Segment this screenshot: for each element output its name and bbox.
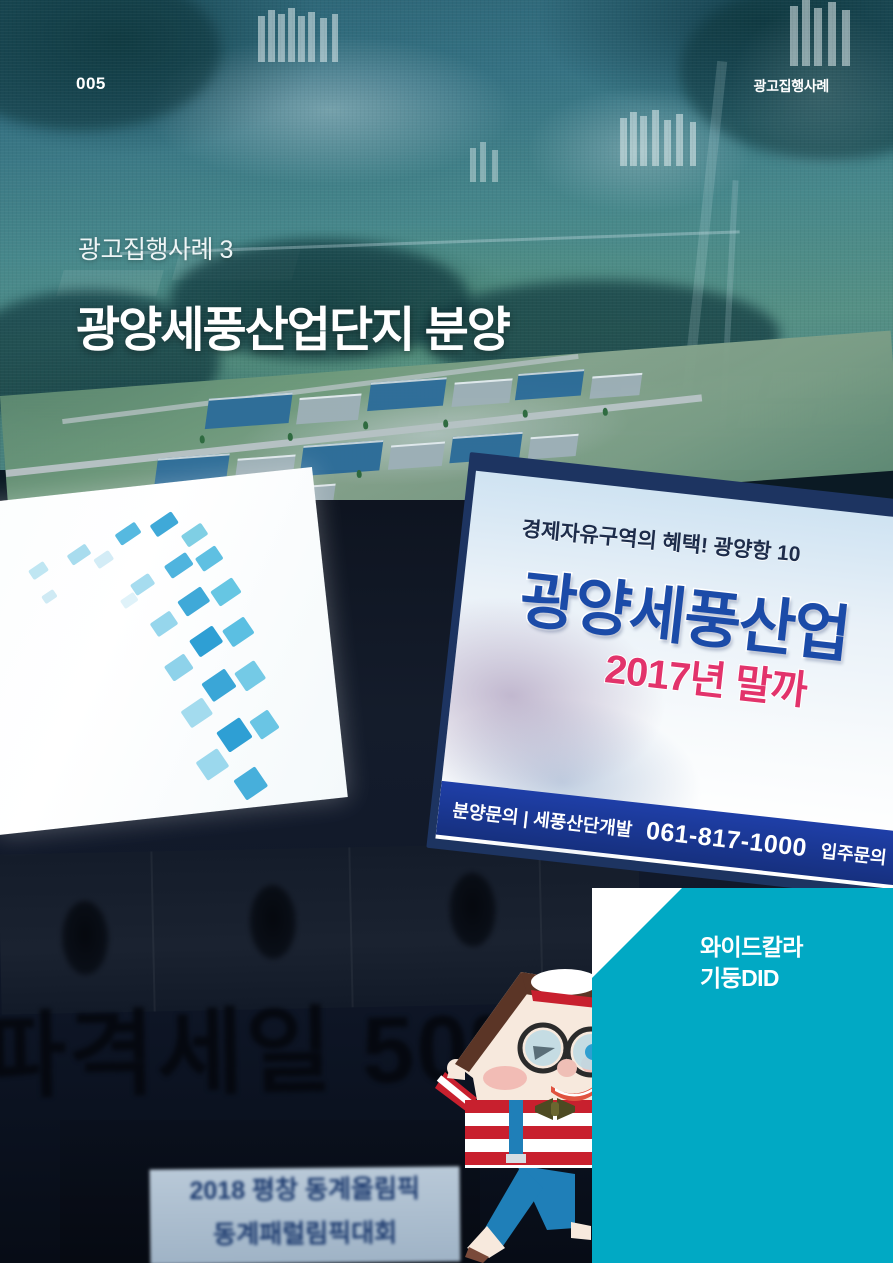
olympic-poster: 2018 평창 동계올림픽 동계패럴림픽대회	[150, 1166, 461, 1263]
mascot-shirt	[465, 1100, 595, 1168]
page-number: 005	[76, 74, 106, 94]
led-display-screen-left	[0, 467, 348, 835]
billboard-display-right: 경제자유구역의 혜택! 광양항 10 광양세풍산업 2017년 말까 분양문의 …	[426, 452, 893, 899]
callout-text: 와이드칼라 기둥DID	[700, 932, 803, 994]
billboard-face: 경제자유구역의 혜택! 광양항 10 광양세풍산업 2017년 말까 분양문의 …	[435, 471, 893, 889]
callout-line-2: 기둥DID	[700, 963, 803, 994]
billboard-phone-number: 061-817-1000	[645, 816, 809, 863]
folded-corner-shape	[592, 888, 682, 978]
mascot-suspender	[509, 1100, 523, 1162]
page-title: 광양세풍산업단지 분양	[76, 290, 509, 360]
callout-line-1: 와이드칼라	[700, 932, 803, 963]
mascot-buckle	[506, 1154, 526, 1163]
poster-line-1: 2018 평창 동계올림픽	[150, 1166, 460, 1213]
callout-box: 와이드칼라 기둥DID	[592, 888, 893, 1263]
brochure-page: 경제자유구역의 혜택! 광양항 10 광양세풍산업 2017년 말까 분양문의 …	[0, 0, 893, 1263]
mascot-head	[455, 969, 610, 1101]
billboard-footer-right: 입주문의	[819, 837, 888, 870]
mascot-legs	[465, 1165, 591, 1263]
poster-line-2: 동계패럴림픽대회	[150, 1210, 460, 1257]
billboard-footer-left: 분양문의 | 세풍산단개발	[451, 796, 633, 842]
sale-banner-blurred: 파격세일 50%	[0, 984, 451, 1122]
mascot-character	[425, 960, 610, 1263]
section-label: 광고집행사례	[754, 76, 829, 96]
eyebrow-label: 광고집행사례 3	[78, 230, 233, 266]
